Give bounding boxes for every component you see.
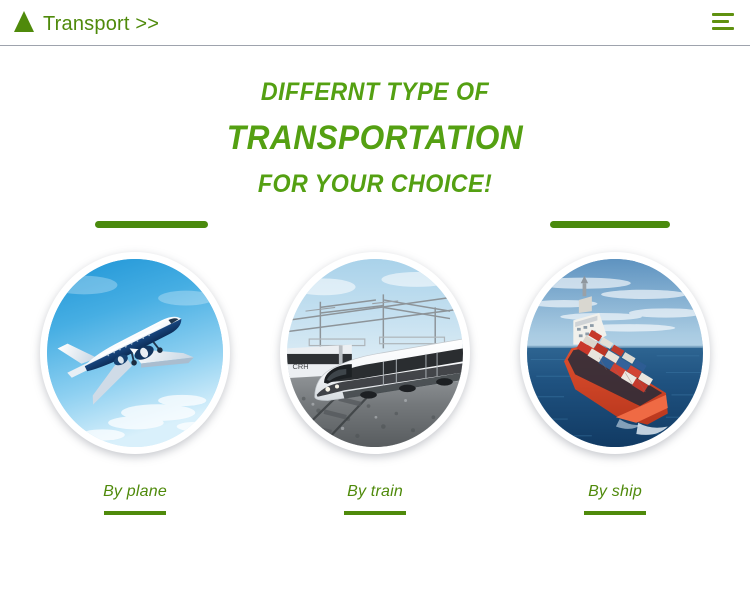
airplane-photo xyxy=(47,259,223,447)
card-label-plane: By plane xyxy=(37,483,233,501)
card-underline-train xyxy=(344,511,406,515)
airplane-icon xyxy=(47,259,223,447)
train-image-wrap: CRH xyxy=(277,249,473,457)
transport-card-ship[interactable]: By ship xyxy=(517,249,713,515)
card-label-ship: By ship xyxy=(517,483,713,501)
high-speed-train-photo: CRH xyxy=(287,259,463,447)
transport-card-train[interactable]: CRH xyxy=(277,249,473,515)
hamburger-bar-1 xyxy=(712,13,734,16)
transport-card-plane[interactable]: By plane xyxy=(37,249,233,515)
container-ship-photo xyxy=(527,259,703,447)
train-icon: CRH xyxy=(287,259,463,447)
hamburger-menu-icon[interactable] xyxy=(712,13,734,30)
card-underline-plane xyxy=(104,511,166,515)
card-label-train: By train xyxy=(277,483,473,501)
ship-circle-frame xyxy=(520,252,710,454)
page-header: Transport >> xyxy=(0,0,750,46)
brand-label: Transport >> xyxy=(43,13,159,36)
plane-image-wrap xyxy=(37,249,233,457)
ship-icon xyxy=(527,259,703,447)
ship-image-wrap xyxy=(517,249,713,457)
heading-line-1: DIFFERNT TYPE OF xyxy=(26,80,724,105)
train-circle-frame: CRH xyxy=(280,252,470,454)
plane-circle-frame xyxy=(40,252,230,454)
section-heading: DIFFERNT TYPE OF TRANSPORTATION FOR YOUR… xyxy=(0,80,750,197)
hamburger-bar-3 xyxy=(712,27,734,30)
heading-line-2: TRANSPORTATION xyxy=(26,121,724,155)
triangle-up-icon xyxy=(14,11,34,32)
card-underline-ship xyxy=(584,511,646,515)
hamburger-bar-2 xyxy=(712,20,729,23)
transport-options-list: By plane xyxy=(0,249,750,515)
heading-line-3: FOR YOUR CHOICE! xyxy=(26,172,724,197)
svg-text:CRH: CRH xyxy=(293,362,309,371)
decorative-dash-left xyxy=(95,221,208,228)
decorative-dash-right xyxy=(550,221,670,228)
brand-link[interactable]: Transport >> xyxy=(14,9,159,36)
